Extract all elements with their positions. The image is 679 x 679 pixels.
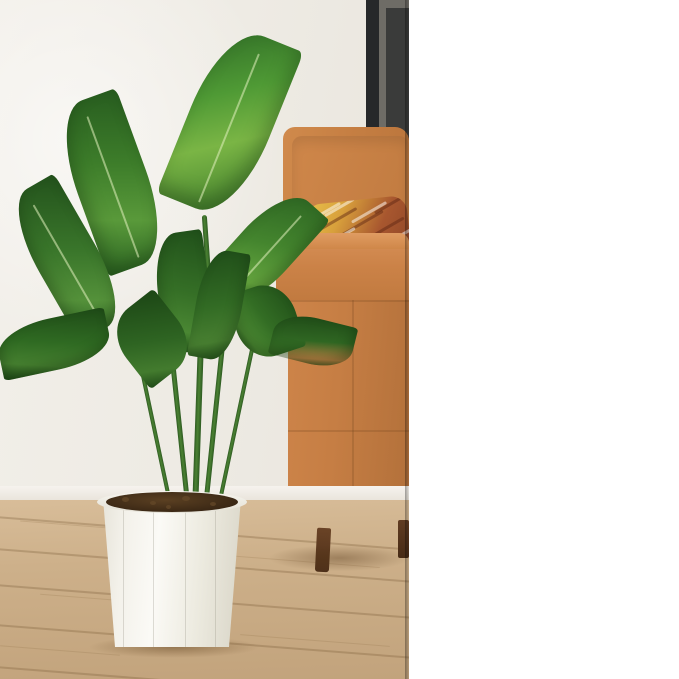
info-panel: White Bird of Paradise	[409, 0, 679, 679]
plant-pot	[97, 495, 247, 647]
leaf	[0, 307, 114, 381]
product-listing-image: White Bird of Paradise	[0, 0, 679, 679]
product-photo	[0, 0, 409, 679]
potting-soil	[106, 492, 238, 512]
